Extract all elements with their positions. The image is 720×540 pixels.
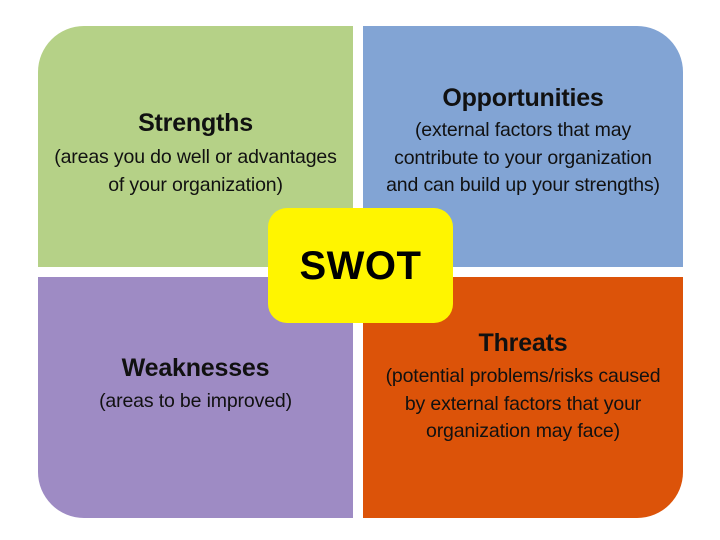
swot-center-badge: SWOT	[268, 208, 453, 323]
description-line: and can build up your strengths)	[386, 172, 660, 200]
quadrant-weaknesses-title: Weaknesses	[122, 354, 270, 382]
description-line: (areas you do well or advantages	[54, 144, 336, 172]
description-line: by external factors that your	[386, 391, 661, 419]
quadrant-strengths-description: (areas you do well or advantages of your…	[54, 144, 336, 199]
description-line: (external factors that may	[386, 117, 660, 145]
description-line: organization may face)	[386, 418, 661, 446]
quadrant-threats-description: (potential problems/risks caused by exte…	[386, 363, 661, 446]
description-line: contribute to your organization	[386, 145, 660, 173]
swot-diagram: Strengths (areas you do well or advantag…	[0, 0, 720, 540]
quadrant-weaknesses-description: (areas to be improved)	[99, 388, 292, 416]
swot-center-label: SWOT	[300, 246, 422, 286]
description-line: (areas to be improved)	[99, 388, 292, 416]
description-line: of your organization)	[54, 172, 336, 200]
quadrant-strengths-title: Strengths	[138, 109, 253, 137]
quadrant-opportunities-title: Opportunities	[442, 84, 603, 112]
description-line: (potential problems/risks caused	[386, 363, 661, 391]
quadrant-opportunities-description: (external factors that may contribute to…	[386, 117, 660, 200]
quadrant-threats-title: Threats	[479, 329, 568, 357]
